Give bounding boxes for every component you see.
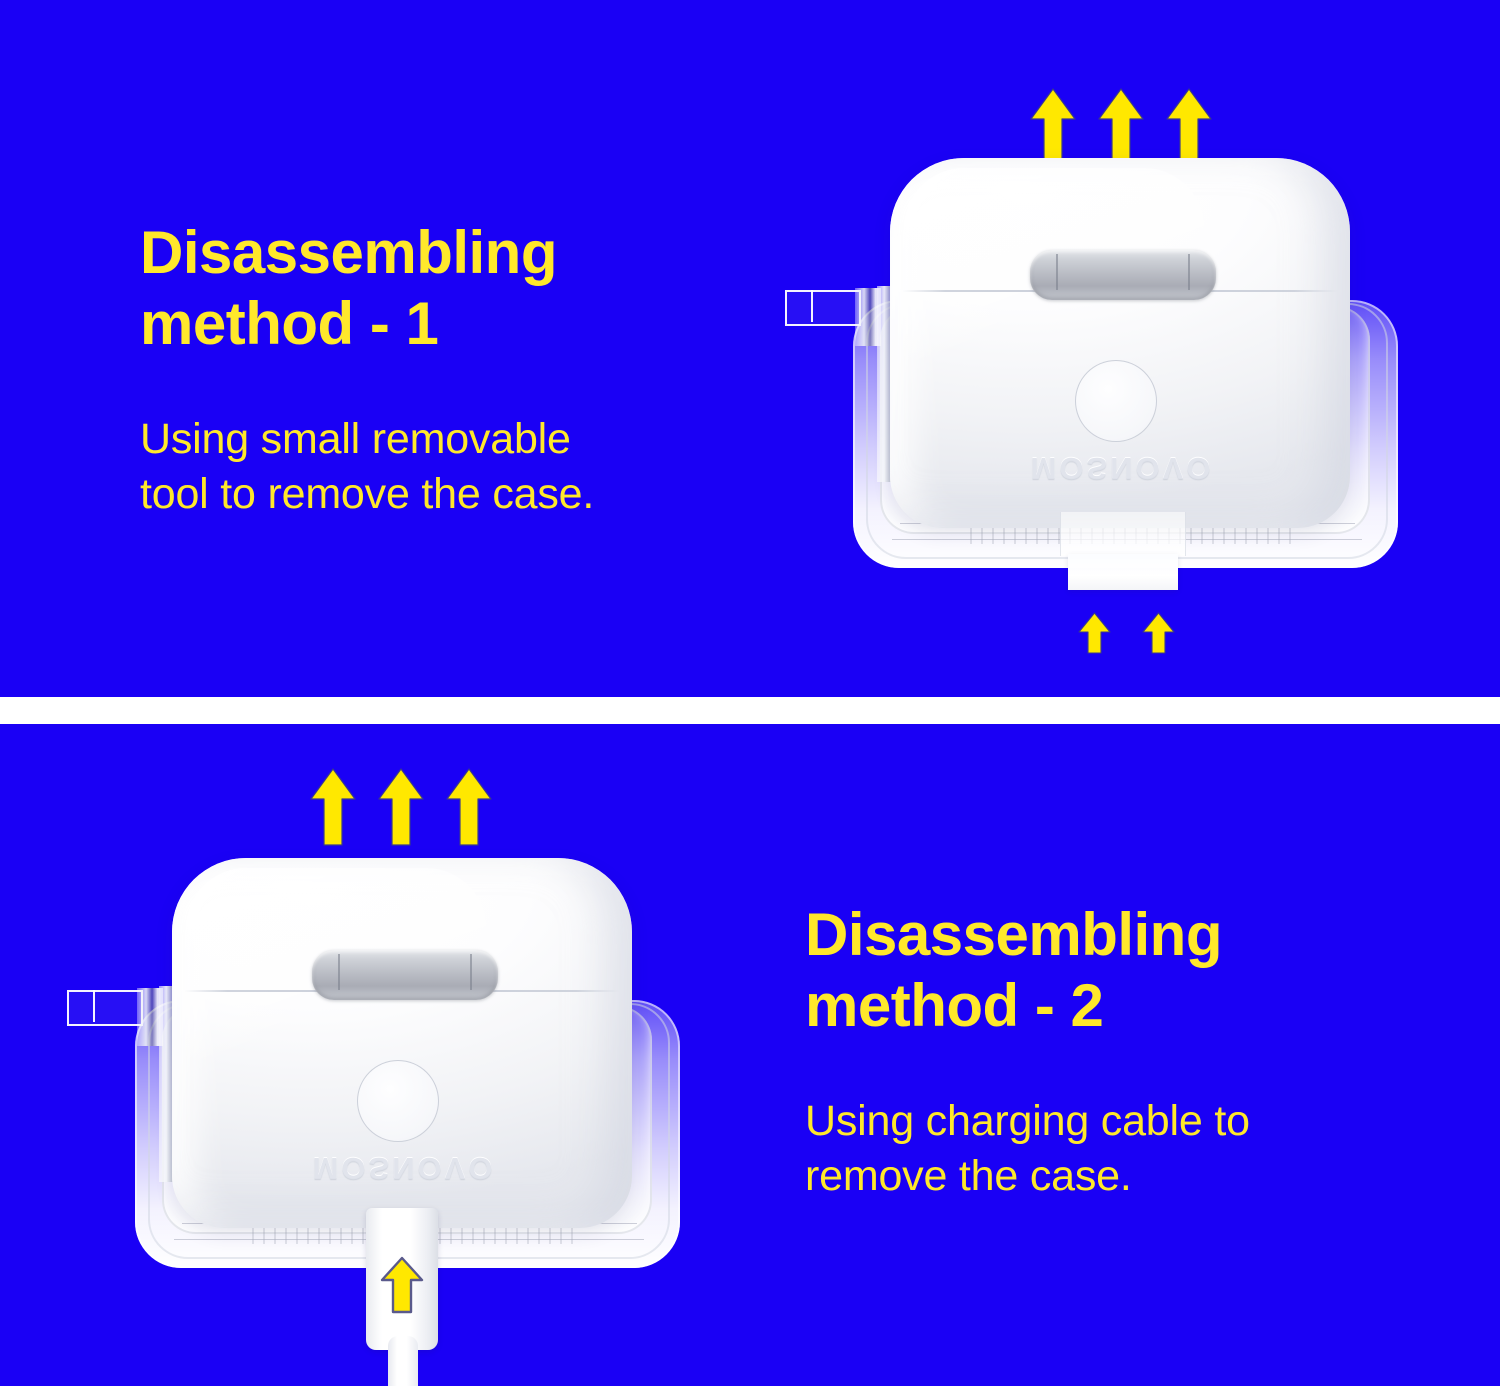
panel-method-1: Disassembling method - 1 Using small rem… xyxy=(0,0,1500,697)
clip-divider xyxy=(93,990,95,1022)
lanyard-clip xyxy=(67,980,187,1100)
product-airpods-case-1: MOSNOVO xyxy=(840,140,1410,580)
clip-divider xyxy=(811,290,813,322)
heading-method-1: Disassembling method - 1 xyxy=(140,218,780,360)
product-airpods-case-2: MOSNOVO xyxy=(122,840,692,1280)
clip-loop xyxy=(785,290,861,326)
subtext-method-1: Using small removable tool to remove the… xyxy=(140,412,780,524)
panel-method-2: Disassembling method - 2 Using charging … xyxy=(0,724,1500,1386)
heading-method-2: Disassembling method - 2 xyxy=(805,900,1445,1042)
hinge-seam xyxy=(1188,254,1190,290)
hinge-seam xyxy=(1056,254,1058,290)
brand-emboss-text: MOSNOVO xyxy=(1022,450,1222,486)
instruction-sheet: Disassembling method - 1 Using small rem… xyxy=(0,0,1500,1386)
clip-loop xyxy=(67,990,143,1026)
subtext-method-2: Using charging cable to remove the case. xyxy=(805,1094,1445,1206)
hinge-bar xyxy=(312,950,498,1000)
brand-emboss-text: MOSNOVO xyxy=(304,1150,504,1186)
removal-tool-tab xyxy=(1068,554,1178,590)
text-block-method-2: Disassembling method - 2 Using charging … xyxy=(805,900,1445,1205)
arrow-up-icon xyxy=(380,1256,424,1319)
arrow-up-icon xyxy=(378,768,424,846)
airpods-case-body: MOSNOVO xyxy=(172,858,632,1228)
hinge-seam xyxy=(470,954,472,990)
lanyard-clip xyxy=(785,280,905,400)
pairing-button xyxy=(357,1060,439,1142)
text-block-method-1: Disassembling method - 1 Using small rem… xyxy=(140,218,780,523)
arrow-up-icon xyxy=(310,768,356,846)
charging-cable-wire xyxy=(388,1336,418,1386)
hinge-seam xyxy=(338,954,340,990)
hinge-bar xyxy=(1030,250,1216,300)
arrow-up-icon xyxy=(446,768,492,846)
arrow-up-icon xyxy=(1078,612,1111,654)
airpods-case-body: MOSNOVO xyxy=(890,158,1350,528)
pairing-button xyxy=(1075,360,1157,442)
arrow-up-icon xyxy=(1142,612,1175,654)
removal-tool-upper xyxy=(1060,512,1186,556)
panel-divider xyxy=(0,697,1500,724)
